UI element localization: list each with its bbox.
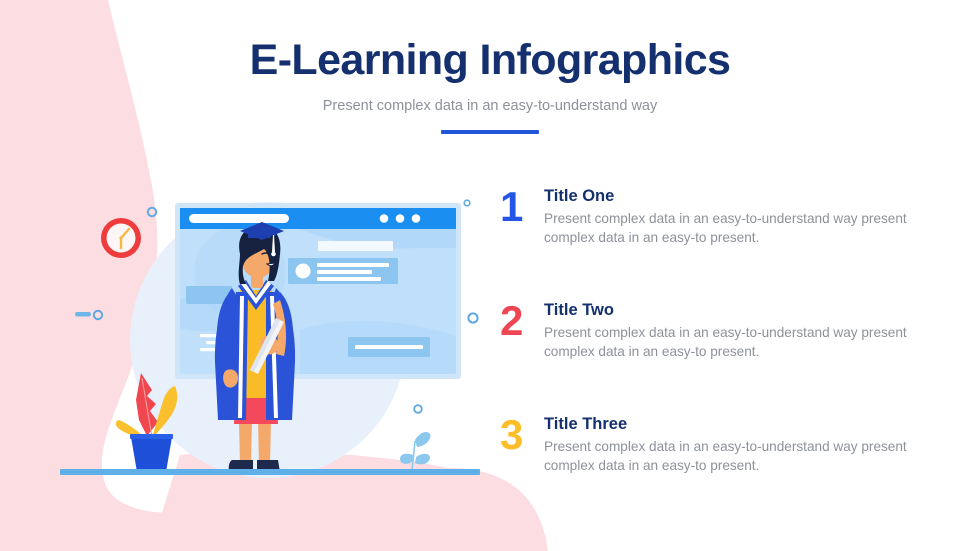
item-title-3: Title Three bbox=[544, 414, 930, 434]
clock-center-pin bbox=[119, 236, 122, 239]
browser-dot-2 bbox=[396, 214, 405, 223]
accent-dash-left bbox=[75, 312, 91, 317]
content-card-line-1 bbox=[317, 263, 389, 267]
item-number-2: 2 bbox=[500, 298, 544, 342]
browser-dot-3 bbox=[412, 214, 421, 223]
item-body-3: Title Three Present complex data in an e… bbox=[544, 412, 930, 475]
leg-left bbox=[239, 420, 252, 466]
page-title: E-Learning Infographics bbox=[0, 34, 980, 86]
list-item[interactable]: 1 Title One Present complex data in an e… bbox=[500, 184, 930, 278]
content-card-line-3 bbox=[317, 277, 381, 281]
item-title-1: Title One bbox=[544, 186, 930, 206]
page-subtitle: Present complex data in an easy-to-under… bbox=[0, 96, 980, 116]
ground-line bbox=[60, 469, 480, 475]
list-item[interactable]: 2 Title Two Present complex data in an e… bbox=[500, 298, 930, 392]
content-card-avatar bbox=[296, 264, 311, 279]
sprout-leaf-left bbox=[400, 454, 413, 464]
item-body-1: Title One Present complex data in an eas… bbox=[544, 184, 930, 247]
browser-address-bar bbox=[189, 214, 289, 223]
browser-button-line bbox=[355, 345, 423, 349]
plant-pot bbox=[131, 437, 172, 472]
browser-dot-1 bbox=[380, 214, 389, 223]
item-description-2: Present complex data in an easy-to-under… bbox=[544, 324, 930, 361]
content-card-line-2 bbox=[317, 270, 372, 274]
item-body-2: Title Two Present complex data in an eas… bbox=[544, 298, 930, 361]
accent-dot-tiny-right bbox=[464, 200, 470, 206]
list-item[interactable]: 3 Title Three Present complex data in an… bbox=[500, 412, 930, 506]
pink-background-blob-lower bbox=[150, 451, 540, 551]
title-underline-rule bbox=[441, 130, 539, 134]
wall-clock bbox=[101, 218, 141, 258]
leg-right bbox=[258, 420, 271, 466]
item-title-2: Title Two bbox=[544, 300, 930, 320]
item-number-3: 3 bbox=[500, 412, 544, 456]
plant-pot-rim bbox=[130, 434, 173, 439]
sprout-leaf-right bbox=[415, 454, 430, 465]
slide-canvas: E-Learning Infographics Present complex … bbox=[0, 0, 980, 551]
header: E-Learning Infographics Present complex … bbox=[0, 34, 980, 134]
browser-content-pill bbox=[318, 241, 393, 251]
item-description-3: Present complex data in an easy-to-under… bbox=[544, 438, 930, 475]
item-description-1: Present complex data in an easy-to-under… bbox=[544, 210, 930, 247]
accent-dot-medium-right bbox=[468, 313, 477, 322]
sprout-leaf-top bbox=[415, 432, 430, 447]
cap-tassel-tip bbox=[271, 252, 276, 257]
item-number-1: 1 bbox=[500, 184, 544, 228]
infographic-items-list: 1 Title One Present complex data in an e… bbox=[500, 184, 930, 526]
accent-dot-small-bottom-right bbox=[414, 405, 422, 413]
